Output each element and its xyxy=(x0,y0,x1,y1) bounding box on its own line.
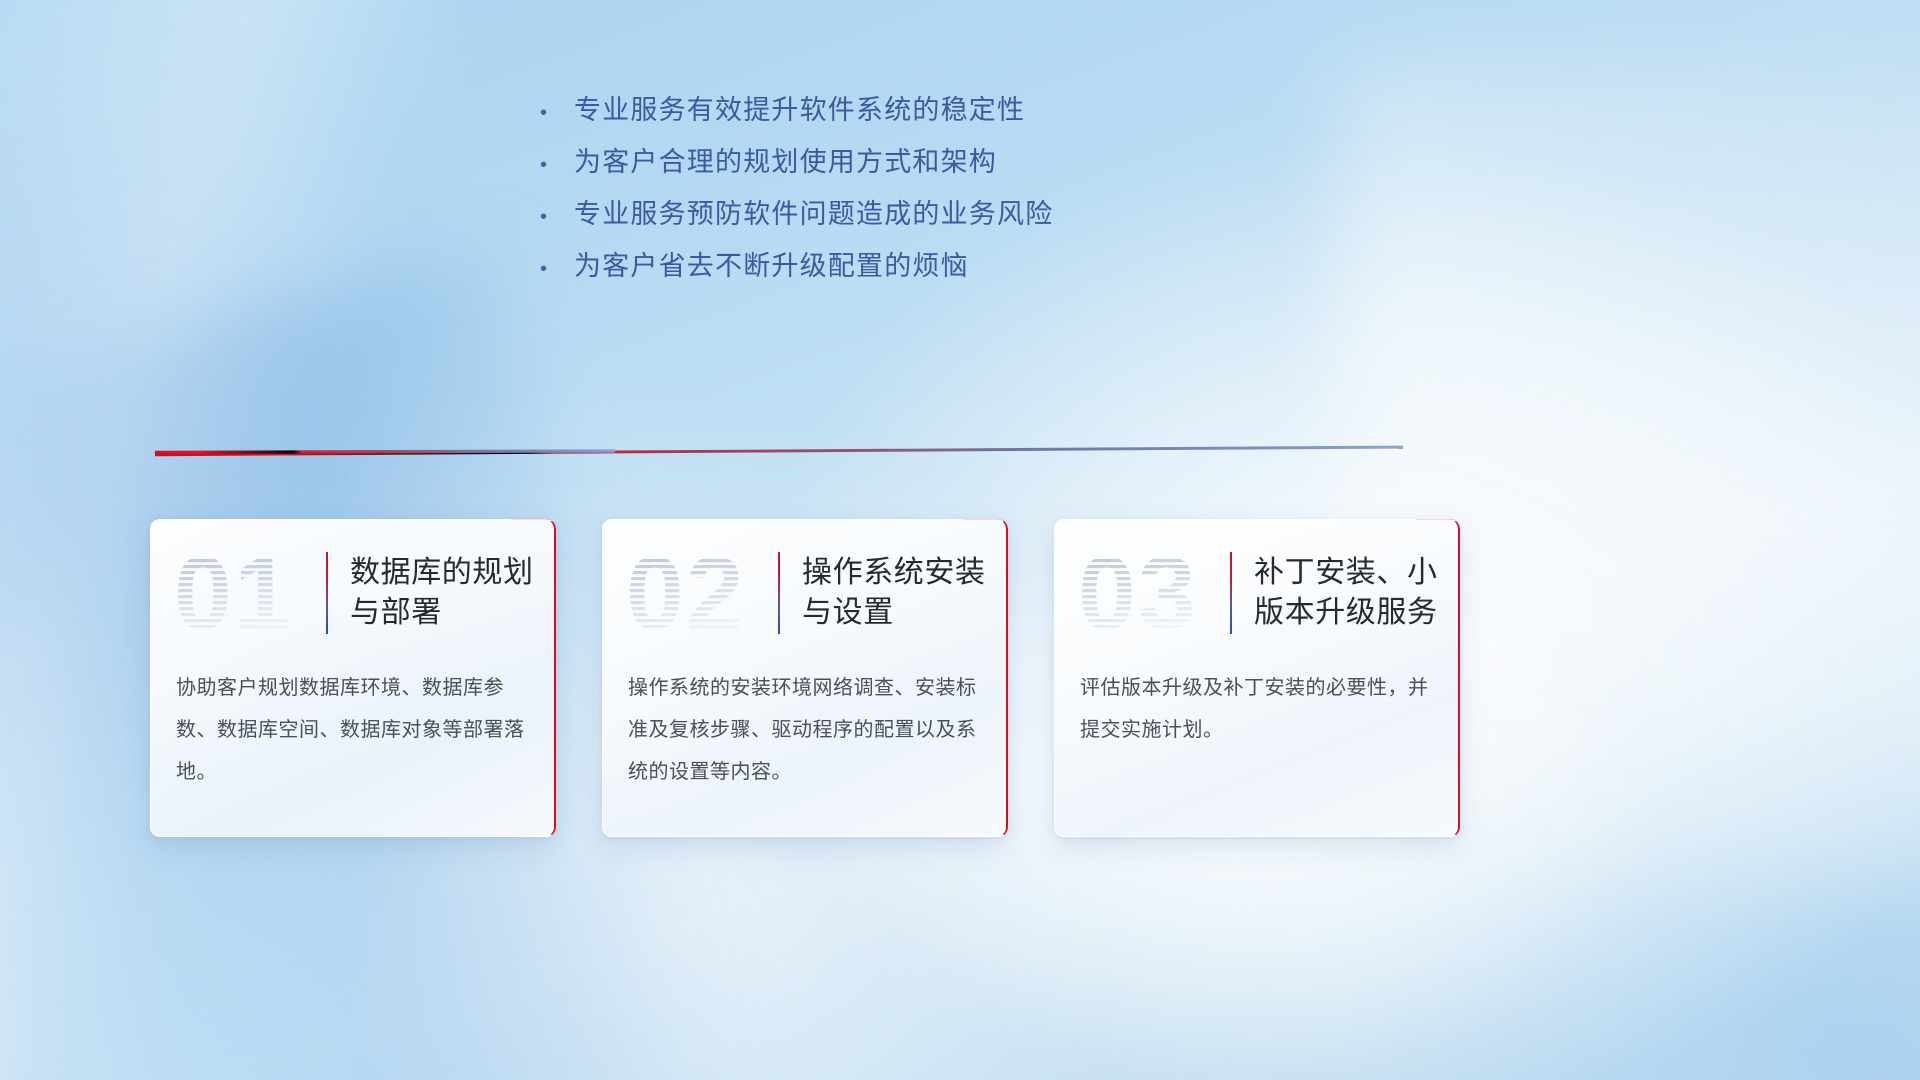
card-title: 数据库的规划 与部署 xyxy=(350,553,534,632)
bullet-dot-icon: • xyxy=(540,103,574,123)
card-description: 操作系统的安装环境网络调查、安装标准及复核步骤、驱动程序的配置以及系统的设置等内… xyxy=(602,667,1008,793)
striped-number-icon: 02 xyxy=(624,541,774,645)
list-item: • 专业服务有效提升软件系统的稳定性 xyxy=(540,88,1440,140)
title-accent-rule xyxy=(778,552,780,634)
card-number-watermark: 01 xyxy=(172,541,322,645)
card-title-line: 与设置 xyxy=(802,593,986,633)
striped-number-icon: 01 xyxy=(172,541,322,645)
card-title-line: 与部署 xyxy=(350,593,534,633)
card-description: 协助客户规划数据库环境、数据库参数、数据库空间、数据库对象等部署落地。 xyxy=(150,667,556,793)
card-description: 评估版本升级及补丁安装的必要性，并提交实施计划。 xyxy=(1054,667,1460,751)
title-accent-rule xyxy=(326,552,328,634)
service-cards-row: 01 数据库的规划 与部署 协助客户规划数据库环境、数据库参数、数据库空间、数据… xyxy=(150,519,1460,837)
card-title-line: 数据库的规划 xyxy=(350,553,534,593)
title-accent-rule xyxy=(1230,552,1232,634)
bullet-text: 专业服务有效提升软件系统的稳定性 xyxy=(574,88,1025,127)
bullet-text: 为客户省去不断升级配置的烦恼 xyxy=(574,244,969,283)
card-number-watermark: 03 xyxy=(1076,541,1226,645)
card-number-watermark: 02 xyxy=(624,541,774,645)
list-item: • 为客户省去不断升级配置的烦恼 xyxy=(540,244,1440,296)
list-item: • 专业服务预防软件问题造成的业务风险 xyxy=(540,192,1440,244)
service-card[interactable]: 02 操作系统安装 与设置 操作系统的安装环境网络调查、安装标准及复核步骤、驱动… xyxy=(602,519,1008,837)
card-title-line: 补丁安装、小 xyxy=(1254,553,1438,593)
bullet-dot-icon: • xyxy=(540,259,574,279)
service-card[interactable]: 03 补丁安装、小 版本升级服务 评估版本升级及补丁安装的必要性，并提交实施计划… xyxy=(1054,519,1460,837)
section-divider xyxy=(155,440,1403,458)
slide-canvas: • 专业服务有效提升软件系统的稳定性 • 为客户合理的规划使用方式和架构 • 专… xyxy=(0,0,1920,1080)
bullet-dot-icon: • xyxy=(540,207,574,227)
list-item: • 为客户合理的规划使用方式和架构 xyxy=(540,140,1440,192)
striped-number-icon: 03 xyxy=(1076,541,1226,645)
bullet-text: 专业服务预防软件问题造成的业务风险 xyxy=(574,192,1053,231)
card-header: 03 补丁安装、小 版本升级服务 xyxy=(1054,519,1460,667)
card-header: 01 数据库的规划 与部署 xyxy=(150,519,556,667)
card-number-text: 01 xyxy=(174,541,294,645)
card-title: 补丁安装、小 版本升级服务 xyxy=(1254,553,1438,632)
tapered-line-icon xyxy=(155,440,1403,458)
card-title-line: 版本升级服务 xyxy=(1254,593,1438,633)
bullet-text: 为客户合理的规划使用方式和架构 xyxy=(574,140,997,179)
card-title-line: 操作系统安装 xyxy=(802,553,986,593)
benefits-bullet-list: • 专业服务有效提升软件系统的稳定性 • 为客户合理的规划使用方式和架构 • 专… xyxy=(540,88,1440,296)
card-header: 02 操作系统安装 与设置 xyxy=(602,519,1008,667)
card-number-text: 03 xyxy=(1078,541,1198,645)
service-card[interactable]: 01 数据库的规划 与部署 协助客户规划数据库环境、数据库参数、数据库空间、数据… xyxy=(150,519,556,837)
card-title: 操作系统安装 与设置 xyxy=(802,553,986,632)
bullet-dot-icon: • xyxy=(540,155,574,175)
card-number-text: 02 xyxy=(626,541,746,645)
